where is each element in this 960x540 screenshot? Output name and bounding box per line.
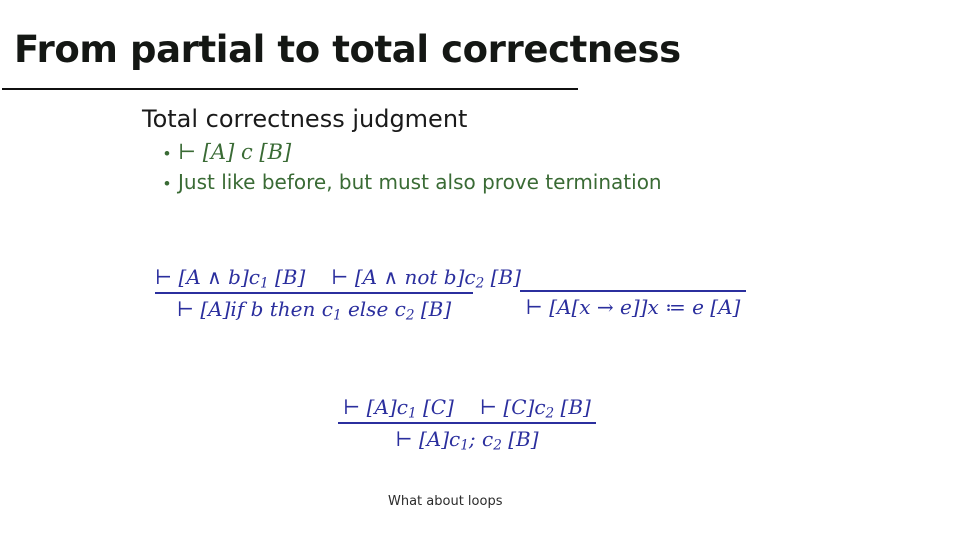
inference-rule-conditional: ⊢ [A ∧ b]c1 [B]⊢ [A ∧ not b]c2 [B] ⊢ [A]… (155, 266, 473, 325)
bullet-marker-icon: • (164, 145, 178, 162)
bullet-text-termination: Just like before, but must also prove te… (178, 170, 662, 194)
title-divider (2, 88, 578, 90)
premise-right: ⊢ [A ∧ not b]c2 [B] (331, 265, 521, 289)
list-item: • Just like before, but must also prove … (164, 170, 662, 194)
body-heading: Total correctness judgment (142, 105, 467, 133)
rule-conclusion: ⊢ [A]c1; c2 [B] (338, 424, 596, 455)
bullet-text-judgment: ⊢ [A] c [B] (178, 140, 291, 164)
rule-premises: ⊢ [A ∧ b]c1 [B]⊢ [A ∧ not b]c2 [B] (155, 266, 473, 292)
bullet-marker-icon: • (164, 175, 178, 192)
page-title: From partial to total correctness (14, 28, 681, 71)
premise-left: ⊢ [A ∧ b]c1 [B] (155, 265, 305, 289)
slide-canvas: From partial to total correctness Total … (0, 0, 960, 540)
rule-conclusion: ⊢ [A]if b then c1 else c2 [B] (155, 294, 473, 325)
rule-premises: ⊢ [A]c1 [C]⊢ [C]c2 [B] (338, 396, 596, 422)
premise-left: ⊢ [A]c1 [C] (343, 395, 454, 419)
footer-note: What about loops (388, 494, 502, 509)
premise-right: ⊢ [C]c2 [B] (480, 395, 591, 419)
list-item: • ⊢ [A] c [B] (164, 140, 291, 164)
inference-rule-sequence: ⊢ [A]c1 [C]⊢ [C]c2 [B] ⊢ [A]c1; c2 [B] (338, 396, 596, 455)
rule-conclusion: ⊢ [A[x → e]]x ≔ e [A] (520, 292, 746, 320)
inference-rule-assignment: ⊢ [A[x → e]]x ≔ e [A] (520, 274, 746, 320)
